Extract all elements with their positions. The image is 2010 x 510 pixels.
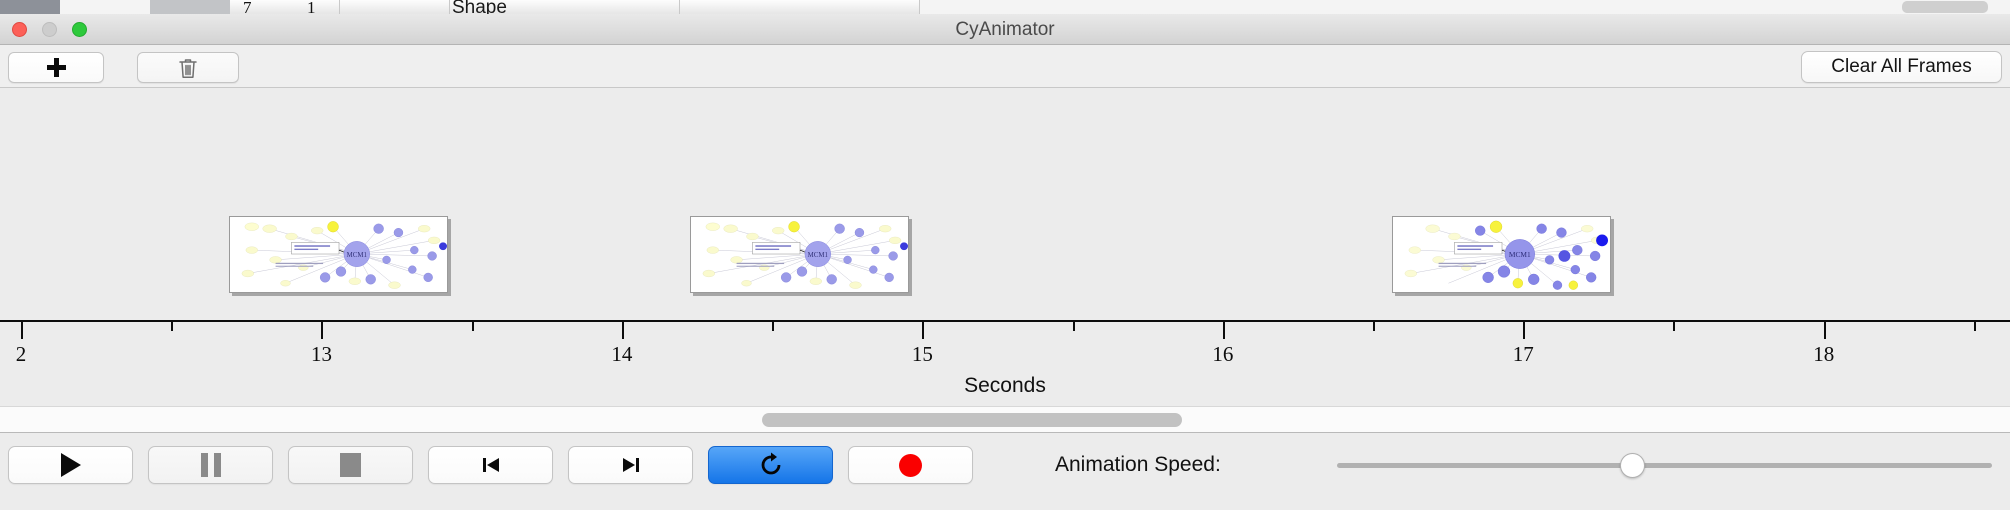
cyanimator-window: 7 1 Shape CyAnimator Clear All Frames bbox=[0, 0, 2010, 510]
axis-tick-minor bbox=[1673, 322, 1675, 331]
toolbar: Clear All Frames bbox=[0, 45, 2010, 88]
axis-tick-label: 18 bbox=[1813, 342, 1834, 367]
background-window-strip: 7 1 Shape bbox=[0, 0, 2010, 14]
skip-to-start-icon bbox=[479, 453, 503, 477]
axis-tick-minor bbox=[472, 322, 474, 331]
slider-thumb[interactable] bbox=[1620, 453, 1645, 478]
title-bar: CyAnimator bbox=[0, 14, 2010, 45]
skip-to-end-icon bbox=[619, 453, 643, 477]
keyframe-thumbnail-2[interactable]: MCM1 bbox=[690, 216, 909, 293]
record-icon bbox=[899, 454, 922, 477]
axis-tick-minor bbox=[772, 322, 774, 331]
timeline-scrollbar-thumb[interactable] bbox=[762, 413, 1182, 427]
timeline-axis: 2131415161718 bbox=[0, 320, 2010, 372]
pause-button[interactable] bbox=[148, 446, 273, 484]
background-dark-segment bbox=[0, 0, 60, 14]
background-shape-label: Shape bbox=[452, 0, 507, 14]
timeline-panel[interactable]: MCM1 bbox=[0, 88, 2010, 406]
clear-all-frames-label: Clear All Frames bbox=[1831, 56, 1971, 78]
keyframe-thumbnail-3[interactable]: MCM1 bbox=[1392, 216, 1611, 293]
svg-text:MCM1: MCM1 bbox=[347, 252, 368, 259]
animation-speed-slider[interactable] bbox=[1337, 446, 1992, 484]
plus-icon bbox=[46, 57, 67, 78]
background-cell-2 bbox=[340, 0, 450, 14]
axis-tick-minor bbox=[171, 322, 173, 331]
axis-title: Seconds bbox=[0, 374, 2010, 398]
svg-text:MCM1: MCM1 bbox=[808, 252, 829, 259]
axis-tick-label: 17 bbox=[1513, 342, 1534, 367]
axis-tick-major bbox=[1223, 322, 1225, 339]
keyframes-layer: MCM1 bbox=[0, 88, 2010, 316]
loop-button[interactable] bbox=[708, 446, 833, 484]
keyframe-thumbnail-1[interactable]: MCM1 bbox=[229, 216, 448, 293]
skip-to-end-button[interactable] bbox=[568, 446, 693, 484]
svg-text:MCM1: MCM1 bbox=[1509, 250, 1531, 259]
network-graph-pale-1: MCM1 bbox=[230, 217, 447, 292]
axis-tick-label: 13 bbox=[311, 342, 332, 367]
axis-tick-major bbox=[922, 322, 924, 339]
axis-line bbox=[0, 320, 2010, 322]
record-button[interactable] bbox=[848, 446, 973, 484]
skip-to-start-button[interactable] bbox=[428, 446, 553, 484]
loop-icon bbox=[758, 452, 784, 478]
axis-tick-minor bbox=[1974, 322, 1976, 331]
axis-tick-label: 15 bbox=[912, 342, 933, 367]
slider-track bbox=[1337, 463, 1992, 468]
network-graph-bold-3: MCM1 bbox=[1393, 217, 1610, 292]
clear-all-frames-button[interactable]: Clear All Frames bbox=[1801, 51, 2002, 83]
axis-tick-major bbox=[21, 322, 23, 339]
axis-tick-minor bbox=[1373, 322, 1375, 331]
background-scrollbar bbox=[1902, 1, 1988, 13]
timeline-scroll-area[interactable] bbox=[0, 406, 2010, 433]
background-glyph-1: 7 bbox=[243, 0, 252, 14]
axis-tick-major bbox=[1523, 322, 1525, 339]
network-graph-pale-2: MCM1 bbox=[691, 217, 908, 292]
axis-tick-minor bbox=[1073, 322, 1075, 331]
animation-speed-label: Animation Speed: bbox=[1055, 446, 1221, 484]
delete-frame-button[interactable] bbox=[137, 52, 239, 83]
pause-icon bbox=[201, 453, 221, 477]
play-icon bbox=[61, 453, 81, 477]
axis-tick-label: 2 bbox=[16, 342, 27, 367]
background-glyph-2: 1 bbox=[307, 0, 316, 14]
window-title: CyAnimator bbox=[0, 14, 2010, 45]
axis-tick-major bbox=[321, 322, 323, 339]
axis-tick-label: 14 bbox=[611, 342, 632, 367]
axis-tick-major bbox=[622, 322, 624, 339]
background-gray-segment bbox=[150, 0, 230, 14]
trash-icon bbox=[178, 57, 198, 79]
stop-button[interactable] bbox=[288, 446, 413, 484]
stop-icon bbox=[340, 453, 361, 477]
axis-tick-major bbox=[1824, 322, 1826, 339]
background-cell-4 bbox=[680, 0, 920, 14]
play-button[interactable] bbox=[8, 446, 133, 484]
axis-tick-label: 16 bbox=[1212, 342, 1233, 367]
add-frame-button[interactable] bbox=[8, 52, 104, 83]
playback-control-bar: Animation Speed: bbox=[0, 433, 2010, 510]
